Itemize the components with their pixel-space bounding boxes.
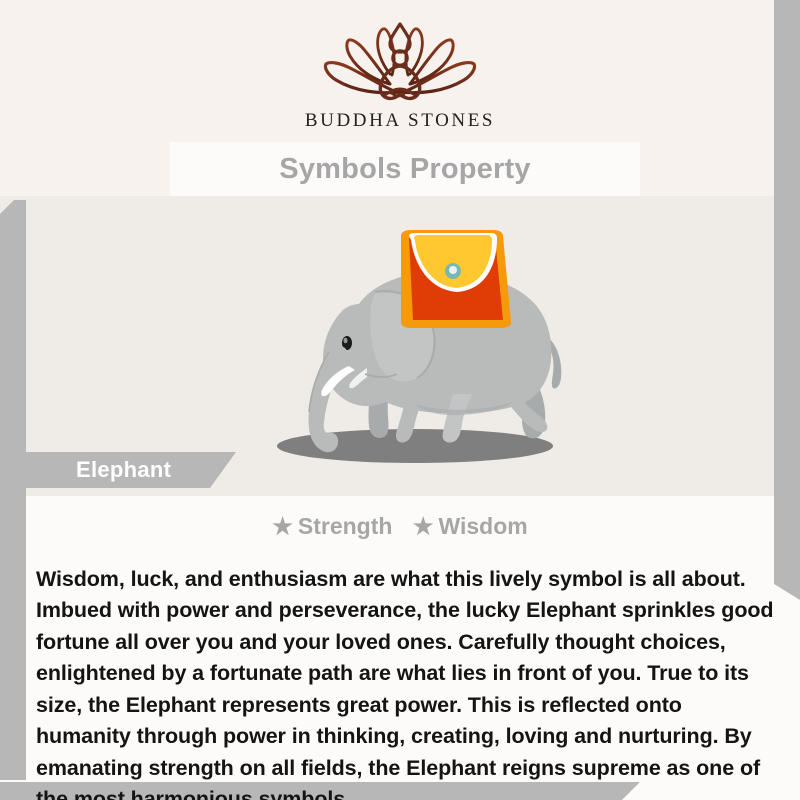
brand-name: BUDDHA STONES: [0, 110, 800, 132]
saddle-blanket: [401, 230, 511, 328]
star-icon: ★: [272, 513, 293, 539]
symbol-name-banner: Elephant: [26, 452, 236, 488]
star-icon: ★: [413, 513, 434, 539]
attribute-wisdom-label: Wisdom: [438, 513, 527, 539]
attribute-strength-label: Strength: [298, 513, 393, 539]
attribute-wisdom: ★Wisdom: [413, 513, 528, 540]
symbol-property-card: BUDDHA STONES Symbols Property: [0, 0, 800, 800]
lotus-meditation-icon: [316, 18, 484, 106]
attribute-strength: ★Strength: [272, 513, 392, 540]
symbol-name: Elephant: [76, 457, 171, 483]
decorative-bar-left: [0, 200, 26, 780]
walking-elephant-icon: [225, 218, 585, 483]
page-title: Symbols Property: [279, 153, 530, 186]
symbol-description: Wisdom, luck, and enthusiasm are what th…: [36, 564, 778, 800]
page-title-band: Symbols Property: [170, 142, 640, 196]
brand-logo: BUDDHA STONES: [0, 18, 800, 132]
elephant-illustration: [225, 218, 585, 483]
attribute-list: ★Strength ★Wisdom: [0, 513, 800, 540]
